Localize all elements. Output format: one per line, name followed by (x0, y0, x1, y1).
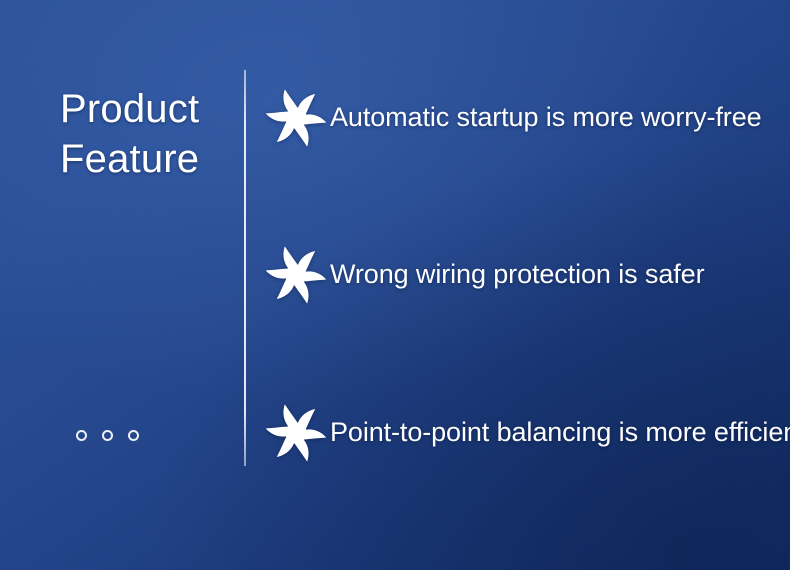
feature-label: Point-to-point balancing is more efficie… (330, 418, 790, 448)
page-title-line-1: Product (60, 84, 235, 134)
page-title: Product Feature (60, 84, 235, 184)
feature-label: Wrong wiring protection is safer (330, 260, 704, 290)
spiral-pinwheel-icon (266, 403, 326, 463)
spiral-pinwheel-icon (266, 245, 326, 305)
product-feature-slide: Product Feature (0, 0, 790, 570)
feature-label: Automatic startup is more worry-free (330, 103, 762, 133)
feature-item: Automatic startup is more worry-free (266, 88, 762, 148)
feature-item: Wrong wiring protection is safer (266, 245, 704, 305)
page-title-line-2: Feature (60, 134, 235, 184)
pagination-dots[interactable] (76, 430, 139, 441)
feature-item: Point-to-point balancing is more efficie… (266, 403, 790, 463)
vertical-divider (244, 70, 246, 466)
spiral-pinwheel-icon (266, 88, 326, 148)
pagination-dot-2[interactable] (102, 430, 113, 441)
pagination-dot-3[interactable] (128, 430, 139, 441)
pagination-dot-1[interactable] (76, 430, 87, 441)
